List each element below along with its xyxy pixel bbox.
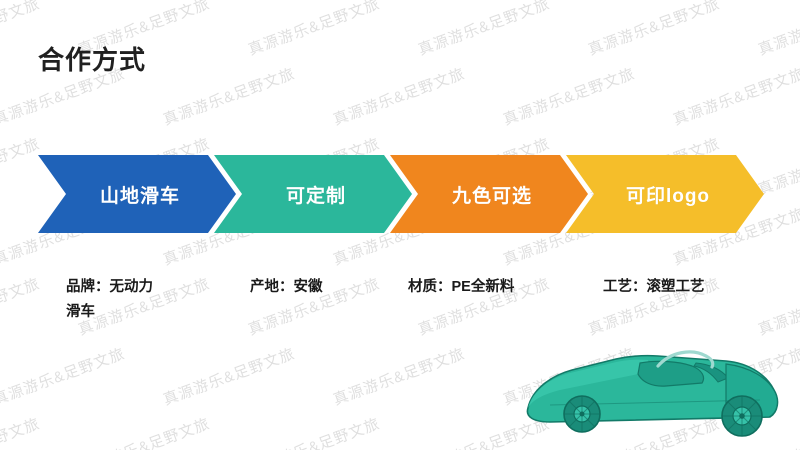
watermark-text: 真源游乐&足野文旅 bbox=[755, 0, 800, 60]
chevron-step-4[interactable]: 可印logo bbox=[566, 155, 764, 233]
process-chevron-row: 山地滑车 可定制 九色可选 可印logo bbox=[38, 155, 762, 233]
page-title: 合作方式 bbox=[38, 40, 146, 77]
go-kart-illustration bbox=[520, 330, 790, 440]
watermark-text: 真源游乐&足野文旅 bbox=[415, 0, 553, 60]
caption-1-line1: 品牌：无动力 bbox=[66, 275, 241, 300]
watermark-text: 真源游乐&足野文旅 bbox=[0, 342, 128, 409]
chevron-step-1[interactable]: 山地滑车 bbox=[38, 155, 236, 233]
watermark-text: 真源游乐&足野文旅 bbox=[330, 342, 468, 409]
caption-1: 品牌：无动力 滑车 bbox=[66, 275, 241, 325]
watermark-text: 真源游乐&足野文旅 bbox=[330, 62, 468, 129]
front-wheel bbox=[564, 396, 600, 432]
chevron-step-2[interactable]: 可定制 bbox=[214, 155, 412, 233]
chevron-step-3-label: 九色可选 bbox=[446, 181, 532, 208]
watermark-text: 真源游乐&足野文旅 bbox=[670, 62, 800, 129]
caption-4: 工艺：滚塑工艺 bbox=[603, 275, 778, 300]
watermark-text: 真源游乐&足野文旅 bbox=[0, 0, 43, 60]
watermark-text: 真源游乐&足野文旅 bbox=[75, 412, 213, 450]
chevron-step-4-label: 可印logo bbox=[620, 181, 710, 208]
caption-1-line2: 滑车 bbox=[66, 300, 241, 325]
chevron-step-1-label: 山地滑车 bbox=[94, 181, 180, 208]
caption-2: 产地：安徽 bbox=[250, 275, 425, 300]
watermark-text: 真源游乐&足野文旅 bbox=[0, 272, 43, 339]
caption-row: 品牌：无动力 滑车 产地：安徽 材质：PE全新料 工艺：滚塑工艺 bbox=[38, 275, 778, 335]
watermark-text: 真源游乐&足野文旅 bbox=[160, 342, 298, 409]
watermark-text: 真源游乐&足野文旅 bbox=[160, 62, 298, 129]
watermark-text: 真源游乐&足野文旅 bbox=[245, 412, 383, 450]
watermark-text: 真源游乐&足野文旅 bbox=[500, 62, 638, 129]
rear-wheel bbox=[722, 396, 762, 436]
watermark-text: 真源游乐&足野文旅 bbox=[245, 0, 383, 60]
caption-2-line1: 产地：安徽 bbox=[250, 275, 425, 300]
watermark-text: 真源游乐&足野文旅 bbox=[0, 412, 43, 450]
chevron-step-2-label: 可定制 bbox=[280, 181, 346, 208]
caption-3-line1: 材质：PE全新料 bbox=[408, 275, 583, 300]
chevron-step-3[interactable]: 九色可选 bbox=[390, 155, 588, 233]
watermark-text: 真源游乐&足野文旅 bbox=[585, 0, 723, 60]
watermark-text: 真源游乐&足野文旅 bbox=[0, 132, 43, 199]
caption-4-line1: 工艺：滚塑工艺 bbox=[603, 275, 778, 300]
caption-3: 材质：PE全新料 bbox=[408, 275, 583, 300]
